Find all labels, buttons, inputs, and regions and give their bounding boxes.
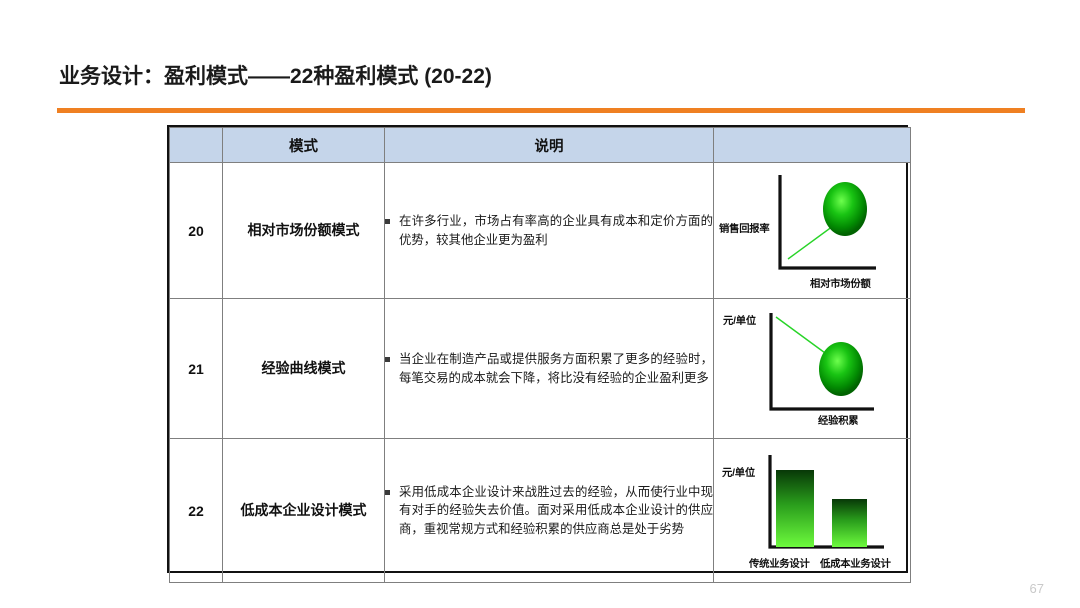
bar-traditional (776, 470, 814, 547)
row-number: 20 (170, 163, 223, 299)
row-description: 当企业在制造产品或提供服务方面积累了更多的经验时，每笔交易的成本就会下降，将比没… (385, 299, 714, 439)
row-mode-name: 低成本企业设计模式 (223, 439, 385, 583)
bullet-square-icon (385, 357, 390, 362)
bar-chart-low-cost-design: 元/单位 传统业务设计 低成本业务设计 (714, 439, 910, 582)
header-cell-mode: 模式 (223, 128, 385, 163)
table-row: 22 低成本企业设计模式 采用低成本企业设计来战胜过去的经验，从而使行业中现有对… (170, 439, 911, 583)
scatter-chart-experience-curve: 元/单位 经验积累 (714, 299, 910, 438)
page-title: 业务设计：盈利模式——22种盈利模式 (20-22) (59, 60, 492, 90)
row-chart: 销售回报率 相对市场份额 (714, 163, 911, 299)
row-mode-name: 相对市场份额模式 (223, 163, 385, 299)
x-axis-label: 相对市场份额 (810, 275, 871, 290)
header-cell-chart (714, 128, 911, 163)
bar-category-label-traditional: 传统业务设计 (749, 555, 810, 570)
bullet-square-icon (385, 219, 390, 224)
slide-root: 业务设计：盈利模式——22种盈利模式 (20-22) 模式 说明 20 相对市场… (0, 0, 1080, 608)
x-axis-label: 经验积累 (818, 412, 858, 427)
row-chart: 元/单位 经验积累 (714, 299, 911, 439)
profit-model-table: 模式 说明 20 相对市场份额模式 在许多行业，市场占有率高的企业具有成本和定价… (167, 125, 908, 573)
table-row: 20 相对市场份额模式 在许多行业，市场占有率高的企业具有成本和定价方面的优势，… (170, 163, 911, 299)
row-number: 21 (170, 299, 223, 439)
bar-low-cost (832, 499, 867, 547)
row-mode-name: 经验曲线模式 (223, 299, 385, 439)
y-axis-label: 元/单位 (723, 312, 756, 327)
bar-category-label-lowcost: 低成本业务设计 (820, 555, 891, 570)
page-number: 67 (1030, 581, 1044, 596)
row-description-text: 当企业在制造产品或提供服务方面积累了更多的经验时，每笔交易的成本就会下降，将比没… (399, 350, 713, 387)
row-description-text: 在许多行业，市场占有率高的企业具有成本和定价方面的优势，较其他企业更为盈利 (399, 212, 713, 249)
header-cell-index (170, 128, 223, 163)
row-number: 22 (170, 439, 223, 583)
row-chart: 元/单位 传统业务设计 低成本业务设计 (714, 439, 911, 583)
row-description: 采用低成本企业设计来战胜过去的经验，从而使行业中现有对手的经验失去价值。面对采用… (385, 439, 714, 583)
title-underline-rule (57, 108, 1025, 113)
row-description-text: 采用低成本企业设计来战胜过去的经验，从而使行业中现有对手的经验失去价值。面对采用… (399, 483, 713, 538)
bullet-square-icon (385, 490, 390, 495)
table-row: 21 经验曲线模式 当企业在制造产品或提供服务方面积累了更多的经验时，每笔交易的… (170, 299, 911, 439)
header-cell-description: 说明 (385, 128, 714, 163)
y-axis-label: 元/单位 (722, 464, 755, 479)
row-description: 在许多行业，市场占有率高的企业具有成本和定价方面的优势，较其他企业更为盈利 (385, 163, 714, 299)
y-axis-label: 销售回报率 (719, 220, 769, 235)
scatter-chart-market-share: 销售回报率 相对市场份额 (714, 163, 910, 298)
table-header-row: 模式 说明 (170, 128, 911, 163)
